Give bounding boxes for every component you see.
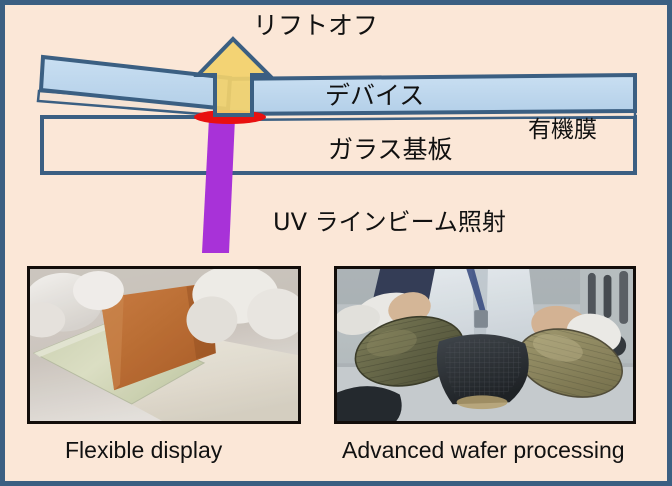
label-glass-substrate: ガラス基板 [328, 137, 453, 162]
label-organic-film: 有機膜 [528, 119, 597, 142]
label-uv-line-beam: UV ラインビーム照射 [273, 210, 506, 234]
device-layer-bonded [219, 75, 635, 114]
photo-flexible-display-image [30, 269, 298, 424]
device-layer-peeled [38, 57, 230, 116]
label-device-layer: デバイス [325, 83, 424, 108]
slide-canvas: リフトオフ デバイス ガラス基板 有機膜 UV ラインビーム照射 [0, 0, 672, 486]
photo-flexible-display [27, 266, 301, 424]
caption-advanced-wafer-processing: Advanced wafer processing [342, 437, 625, 464]
photo-advanced-wafer-processing-image [337, 269, 633, 424]
label-liftoff: リフトオフ [253, 13, 378, 38]
caption-flexible-display: Flexible display [65, 437, 222, 464]
photo-advanced-wafer-processing [334, 266, 636, 424]
